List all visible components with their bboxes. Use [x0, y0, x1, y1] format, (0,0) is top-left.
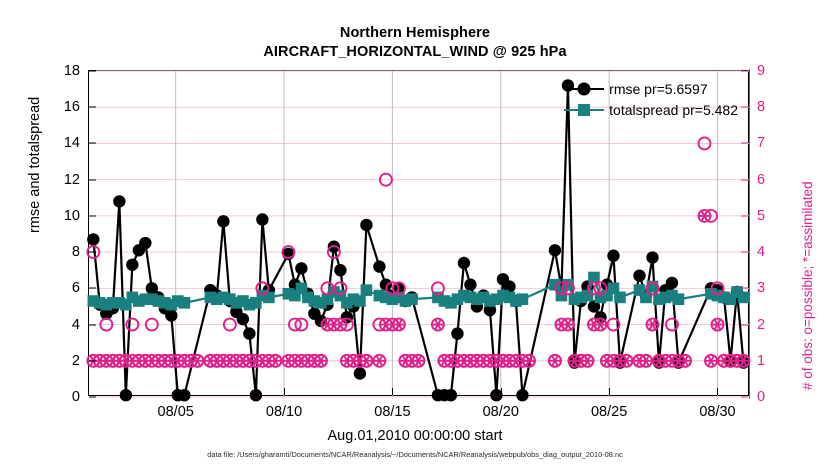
y-tick-label-left: 0	[72, 389, 80, 405]
y-tick-label-right: 6	[757, 172, 765, 188]
y-tick-label-left: 8	[72, 244, 80, 260]
legend-marker-rmse	[564, 82, 604, 96]
x-tick-label: 08/20	[483, 404, 519, 420]
chart-title: Northern Hemisphere AIRCRAFT_HORIZONTAL_…	[0, 24, 830, 62]
y-axis-label-right: # of obs: o=possible; *=assimilated	[800, 181, 815, 390]
plot-area: 024681012141618012345678908/0508/1008/15…	[88, 70, 749, 396]
y-axis-label-left: rmse and totalspread	[27, 97, 43, 233]
y-tick-mark-right	[741, 215, 748, 216]
legend-marker-totalspread	[564, 103, 604, 117]
y-tick-mark-left	[89, 397, 96, 398]
legend-item[interactable]: rmse pr=5.6597	[564, 78, 738, 99]
x-tick-label: 08/05	[158, 404, 194, 420]
x-tick-mark	[609, 388, 610, 395]
legend: rmse pr=5.6597 totalspread pr=5.482	[557, 72, 747, 127]
y-tick-label-right: 0	[757, 389, 765, 405]
y-tick-mark-left	[89, 143, 96, 144]
y-tick-label-left: 18	[64, 63, 80, 79]
x-tick-label: 08/15	[374, 404, 410, 420]
y-tick-mark-left	[89, 360, 96, 361]
x-tick-label: 08/10	[266, 404, 302, 420]
y-tick-mark-right	[741, 397, 748, 398]
x-tick-mark	[284, 388, 285, 395]
y-tick-mark-left	[89, 179, 96, 180]
legend-label-totalspread: totalspread pr=5.482	[609, 102, 738, 118]
right-axis-spine	[749, 69, 750, 398]
y-tick-mark-right	[741, 288, 748, 289]
y-tick-mark-right	[741, 143, 748, 144]
y-tick-mark-right	[741, 360, 748, 361]
y-tick-label-right: 2	[757, 317, 765, 333]
y-tick-mark-left	[89, 252, 96, 253]
y-tick-mark-right	[741, 324, 748, 325]
legend-item[interactable]: totalspread pr=5.482	[564, 99, 738, 120]
y-tick-label-right: 5	[757, 208, 765, 224]
y-tick-label-right: 9	[757, 63, 765, 79]
y-tick-mark-left	[89, 215, 96, 216]
y-tick-mark-right	[741, 179, 748, 180]
data-file-footer: data file: /Users/gharamti/Documents/NCA…	[0, 450, 830, 459]
y-tick-label-left: 4	[72, 317, 80, 333]
x-tick-mark	[392, 388, 393, 395]
y-tick-label-right: 8	[757, 99, 765, 115]
y-tick-mark-left	[89, 71, 96, 72]
y-tick-mark-right	[741, 252, 748, 253]
y-tick-mark-left	[89, 107, 96, 108]
x-tick-label: 08/25	[591, 404, 627, 420]
title-line-1: Northern Hemisphere	[0, 24, 830, 43]
y-tick-label-left: 6	[72, 280, 80, 296]
x-tick-mark	[176, 388, 177, 395]
legend-label-rmse: rmse pr=5.6597	[609, 81, 707, 97]
figure-root: Northern Hemisphere AIRCRAFT_HORIZONTAL_…	[0, 0, 830, 470]
y-tick-label-left: 16	[64, 99, 80, 115]
x-axis-label: Aug.01,2010 00:00:00 start	[0, 428, 830, 444]
y-tick-mark-left	[89, 288, 96, 289]
y-tick-label-right: 3	[757, 280, 765, 296]
title-line-2: AIRCRAFT_HORIZONTAL_WIND @ 925 hPa	[0, 43, 830, 62]
y-tick-label-left: 12	[64, 172, 80, 188]
x-tick-mark	[717, 388, 718, 395]
y-tick-label-right: 4	[757, 244, 765, 260]
y-tick-label-left: 10	[64, 208, 80, 224]
y-tick-label-left: 2	[72, 353, 80, 369]
y-tick-label-right: 1	[757, 353, 765, 369]
y-tick-label-right: 7	[757, 135, 765, 151]
x-tick-mark	[501, 388, 502, 395]
x-tick-label: 08/30	[699, 404, 735, 420]
y-tick-mark-left	[89, 324, 96, 325]
y-tick-label-left: 14	[64, 135, 80, 151]
